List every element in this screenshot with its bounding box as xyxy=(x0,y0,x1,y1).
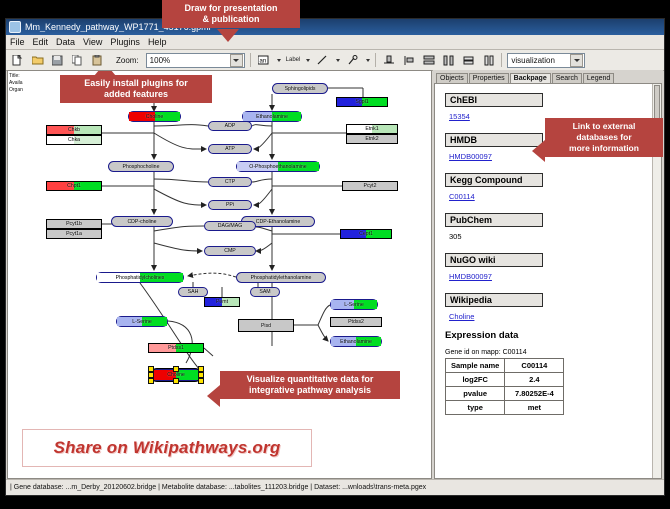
app-icon xyxy=(9,21,21,33)
node-label: Phosphatidylethanolamine xyxy=(251,275,312,281)
callout-draw: Draw for presentation & publication xyxy=(162,0,300,28)
metabolite-node-atp[interactable]: ATP xyxy=(208,144,252,154)
meta-title-label: Title: xyxy=(9,73,23,80)
metabolite-node-l-serine[interactable]: L-Serine xyxy=(116,316,168,327)
node-label: Phosphatidylcholines xyxy=(116,275,165,281)
datanode-chevron-down-icon[interactable] xyxy=(277,59,281,62)
db-header-chebi: ChEBI xyxy=(445,93,543,107)
callout-share-text: Share on Wikipathways.org xyxy=(54,438,281,458)
chevron-down-icon[interactable] xyxy=(230,54,243,67)
canvas-meta-labels: Title: Availa Organ xyxy=(9,73,23,94)
node-label: DAG/MAG xyxy=(218,223,243,229)
metabolite-node-l-serine[interactable]: L-Serine xyxy=(330,299,378,310)
node-label: L-Serine xyxy=(344,302,364,308)
node-label: CDP-Ethanolamine xyxy=(256,219,300,225)
common-width-icon[interactable] xyxy=(461,53,476,68)
line-icon[interactable] xyxy=(315,53,330,68)
menu-item-plugins[interactable]: Plugins xyxy=(110,37,140,47)
gene-node-chkb[interactable]: Chkb xyxy=(46,125,102,135)
node-label: ATP xyxy=(225,146,235,152)
menu-item-help[interactable]: Help xyxy=(148,37,167,47)
metabolite-node-dag-mag[interactable]: DAG/MAG xyxy=(204,221,256,231)
stack-icon[interactable] xyxy=(421,53,436,68)
gene-node-pcyt1a[interactable]: Pcyt1a xyxy=(46,229,102,239)
interaction-icon[interactable] xyxy=(345,53,360,68)
copy-icon[interactable] xyxy=(70,53,85,68)
status-text: | Gene database: ...m_Derby_20120602.bri… xyxy=(6,484,426,491)
zoom-value: 100% xyxy=(150,56,170,65)
open-folder-icon[interactable] xyxy=(30,53,45,68)
metabolite-node-sah[interactable]: SAH xyxy=(178,287,208,297)
distribute-icon[interactable] xyxy=(441,53,456,68)
metabolite-node-ethanolamine[interactable]: Ethanolamine xyxy=(242,111,302,122)
node-label: CMP xyxy=(224,248,236,254)
node-label: Ptdss2 xyxy=(348,319,364,325)
metabolite-node-cmp[interactable]: CMP xyxy=(204,246,256,256)
callout-draw-text: Draw for presentation & publication xyxy=(184,3,277,24)
svg-text:an: an xyxy=(259,58,266,64)
callout-links-arrow-icon xyxy=(532,140,545,162)
new-document-icon[interactable] xyxy=(10,53,25,68)
table-row: type met xyxy=(446,401,564,415)
visualization-chevron-down-icon[interactable] xyxy=(570,54,583,67)
node-label: PPi xyxy=(226,202,234,208)
metabolite-node-phosphatidylcholines[interactable]: Phosphatidylcholines xyxy=(96,272,184,283)
title-bar: Mm_Kennedy_pathway_WP1771_45176.gpml xyxy=(6,19,664,35)
gene-node-sgpl1[interactable]: Sgpl1 xyxy=(336,97,388,107)
expression-key: type xyxy=(446,401,505,415)
metabolite-node-choline[interactable]: Choline xyxy=(128,111,181,122)
label-button[interactable]: Label xyxy=(286,57,301,63)
meta-availability-label: Availa xyxy=(9,80,23,87)
metabolite-node-phosphocholine[interactable]: Phosphocholine xyxy=(108,161,174,172)
db-link-wikipedia[interactable]: Choline xyxy=(449,312,661,321)
table-row: pvalue 7.80252E-4 xyxy=(446,387,564,401)
gene-node-pcyt1b[interactable]: Pcyt1b xyxy=(46,219,102,229)
tab-search[interactable]: Search xyxy=(552,73,582,83)
tab-objects[interactable]: Objects xyxy=(436,73,468,83)
node-label: Sphingolipids xyxy=(285,86,316,92)
node-label: Pcyt1b xyxy=(66,221,82,227)
node-label: L-Serine xyxy=(132,319,152,325)
node-label: Choline xyxy=(167,372,185,378)
menu-item-edit[interactable]: Edit xyxy=(33,37,49,47)
menu-item-data[interactable]: Data xyxy=(56,37,75,47)
expression-key: log2FC xyxy=(446,373,505,387)
node-label: CDP-choline xyxy=(127,219,156,225)
callout-plugins: Easily install plugins for added feature… xyxy=(60,75,212,103)
callout-visualize: Visualize quantitative data for integrat… xyxy=(220,371,400,399)
metabolite-node-ethanolamine[interactable]: Ethanolamine xyxy=(330,336,382,347)
db-header-wikipedia: Wikipedia xyxy=(445,293,543,307)
gene-node-ptdss1[interactable]: Ptdss1 xyxy=(148,343,204,353)
toolbar-separator-2 xyxy=(375,53,376,67)
expression-value: 2.4 xyxy=(505,373,564,387)
label-chevron-down-icon[interactable] xyxy=(306,59,310,62)
node-label: Ptdss1 xyxy=(168,345,184,351)
status-bar: | Gene database: ...m_Derby_20120602.bri… xyxy=(6,479,664,495)
metabolite-node-o-phosphoethanolamine[interactable]: O-Phosphoethanolamine xyxy=(236,161,320,172)
db-header-nugo: NuGO wiki xyxy=(445,253,543,267)
interaction-chevron-down-icon[interactable] xyxy=(366,59,370,62)
visualization-value: visualization xyxy=(511,56,555,65)
zoom-combobox[interactable]: 100% xyxy=(146,53,245,68)
gene-node-etnk2[interactable]: Etnk2 xyxy=(346,134,398,144)
expression-value: C00114 xyxy=(505,359,564,373)
selection-handle[interactable] xyxy=(198,378,204,384)
node-label: Choline xyxy=(146,114,164,120)
expression-value: met xyxy=(505,401,564,415)
selection-handle[interactable] xyxy=(148,378,154,384)
metabolite-node-cdp-choline[interactable]: CDP-choline xyxy=(111,216,173,227)
node-label: Phosphocholine xyxy=(123,164,160,170)
align-top-icon[interactable] xyxy=(381,53,396,68)
db-value-pubchem: 305 xyxy=(449,232,661,241)
node-label: Chkb xyxy=(68,127,80,133)
node-label: SAM xyxy=(259,289,270,295)
save-disk-icon[interactable] xyxy=(50,53,65,68)
callout-plugins-text: Easily install plugins for added feature… xyxy=(84,78,188,99)
line-chevron-down-icon[interactable] xyxy=(336,59,340,62)
node-label: Etnk2 xyxy=(365,136,378,142)
node-label: CTP xyxy=(225,179,235,185)
node-label: Pcyt1a xyxy=(66,231,82,237)
metabolite-node-ctp[interactable]: CTP xyxy=(208,177,252,187)
sidebar-tabs: Objects Properties Backpage Search Legen… xyxy=(433,70,663,83)
toolbar-separator xyxy=(250,53,251,67)
node-label: Etnk1 xyxy=(365,126,378,132)
node-label: Pisd xyxy=(261,323,271,329)
node-label: Cept1 xyxy=(359,231,373,237)
gene-node-pcyt2[interactable]: Pcyt2 xyxy=(342,181,398,191)
callout-links: Link to external databases for more info… xyxy=(545,118,663,157)
menu-bar: File Edit Data View Plugins Help xyxy=(6,35,664,50)
expression-table: Sample name C00114 log2FC 2.4 pvalue 7.8… xyxy=(445,358,564,415)
menu-item-view[interactable]: View xyxy=(83,37,102,47)
callout-plugins-arrow-icon xyxy=(94,70,116,76)
toolbar-separator-3 xyxy=(501,53,502,67)
metabolite-node-phosphatidylethanolamine[interactable]: Phosphatidylethanolamine xyxy=(236,272,326,283)
gene-node-etnk1[interactable]: Etnk1 xyxy=(346,124,398,134)
metabolite-node-sphingolipids[interactable]: Sphingolipids xyxy=(272,83,328,94)
align-left-icon[interactable] xyxy=(401,53,416,68)
tab-legend[interactable]: Legend xyxy=(583,73,614,83)
node-label: SAH xyxy=(188,289,199,295)
expression-value: 7.80252E-4 xyxy=(505,387,564,401)
expression-data-title: Expression data xyxy=(445,330,661,341)
table-row: Sample name C00114 xyxy=(446,359,564,373)
expression-key: Sample name xyxy=(446,359,505,373)
db-header-hmdb: HMDB xyxy=(445,133,543,147)
node-label: Pcyt2 xyxy=(364,183,377,189)
node-label: Pemt xyxy=(216,299,228,305)
gene-node-pisd[interactable]: Pisd xyxy=(238,319,294,332)
metabolite-node-sam[interactable]: SAM xyxy=(250,287,280,297)
db-link-nugo[interactable]: HMDB00097 xyxy=(449,272,661,281)
callout-draw-arrow-icon xyxy=(217,29,239,42)
datanode-icon[interactable]: an xyxy=(256,53,271,68)
tab-backpage[interactable]: Backpage xyxy=(510,73,551,83)
callout-visualize-text: Visualize quantitative data for integrat… xyxy=(247,374,374,395)
node-label: O-Phosphoethanolamine xyxy=(249,164,306,170)
gene-id-line: Gene id on mapp: C00114 xyxy=(445,349,661,356)
callout-links-text: Link to external databases for more info… xyxy=(569,121,639,153)
node-label: ADP xyxy=(225,123,236,129)
menu-item-file[interactable]: File xyxy=(10,37,25,47)
zoom-label: Zoom: xyxy=(116,56,139,65)
metabolite-node-ppi[interactable]: PPi xyxy=(208,200,252,210)
db-header-pubchem: PubChem xyxy=(445,213,543,227)
node-label: Chka xyxy=(68,137,80,143)
gene-node-chka[interactable]: Chka xyxy=(46,135,102,145)
paste-icon[interactable] xyxy=(90,53,105,68)
meta-organism-label: Organ xyxy=(9,87,23,94)
toolbar: Zoom: 100% an Label xyxy=(6,50,664,71)
gene-node-cept1[interactable]: Cept1 xyxy=(340,229,392,239)
node-label: Sgpl1 xyxy=(355,99,368,105)
expression-key: pvalue xyxy=(446,387,505,401)
selection-handle[interactable] xyxy=(173,378,179,384)
metabolite-node-adp[interactable]: ADP xyxy=(208,121,252,131)
tab-properties[interactable]: Properties xyxy=(469,73,509,83)
node-label: Chpt1 xyxy=(67,183,81,189)
callout-share: Share on Wikipathways.org xyxy=(22,429,312,467)
gene-node-chpt1[interactable]: Chpt1 xyxy=(46,181,102,191)
db-link-kegg[interactable]: C00114 xyxy=(449,192,661,201)
pathway-canvas[interactable]: Title: Availa Organ xyxy=(7,70,432,479)
gene-node-ptdss2[interactable]: Ptdss2 xyxy=(330,317,382,327)
node-label: Ethanolamine xyxy=(340,339,372,345)
gene-node-pemt[interactable]: Pemt xyxy=(204,297,240,307)
table-row: log2FC 2.4 xyxy=(446,373,564,387)
common-height-icon[interactable] xyxy=(481,53,496,68)
visualization-combobox[interactable]: visualization xyxy=(507,53,585,68)
callout-visualize-arrow-icon xyxy=(207,385,220,407)
node-label: Ethanolamine xyxy=(256,114,288,120)
db-header-kegg: Kegg Compound xyxy=(445,173,543,187)
pathvisio-window: Mm_Kennedy_pathway_WP1771_45176.gpml Fil… xyxy=(5,18,665,496)
